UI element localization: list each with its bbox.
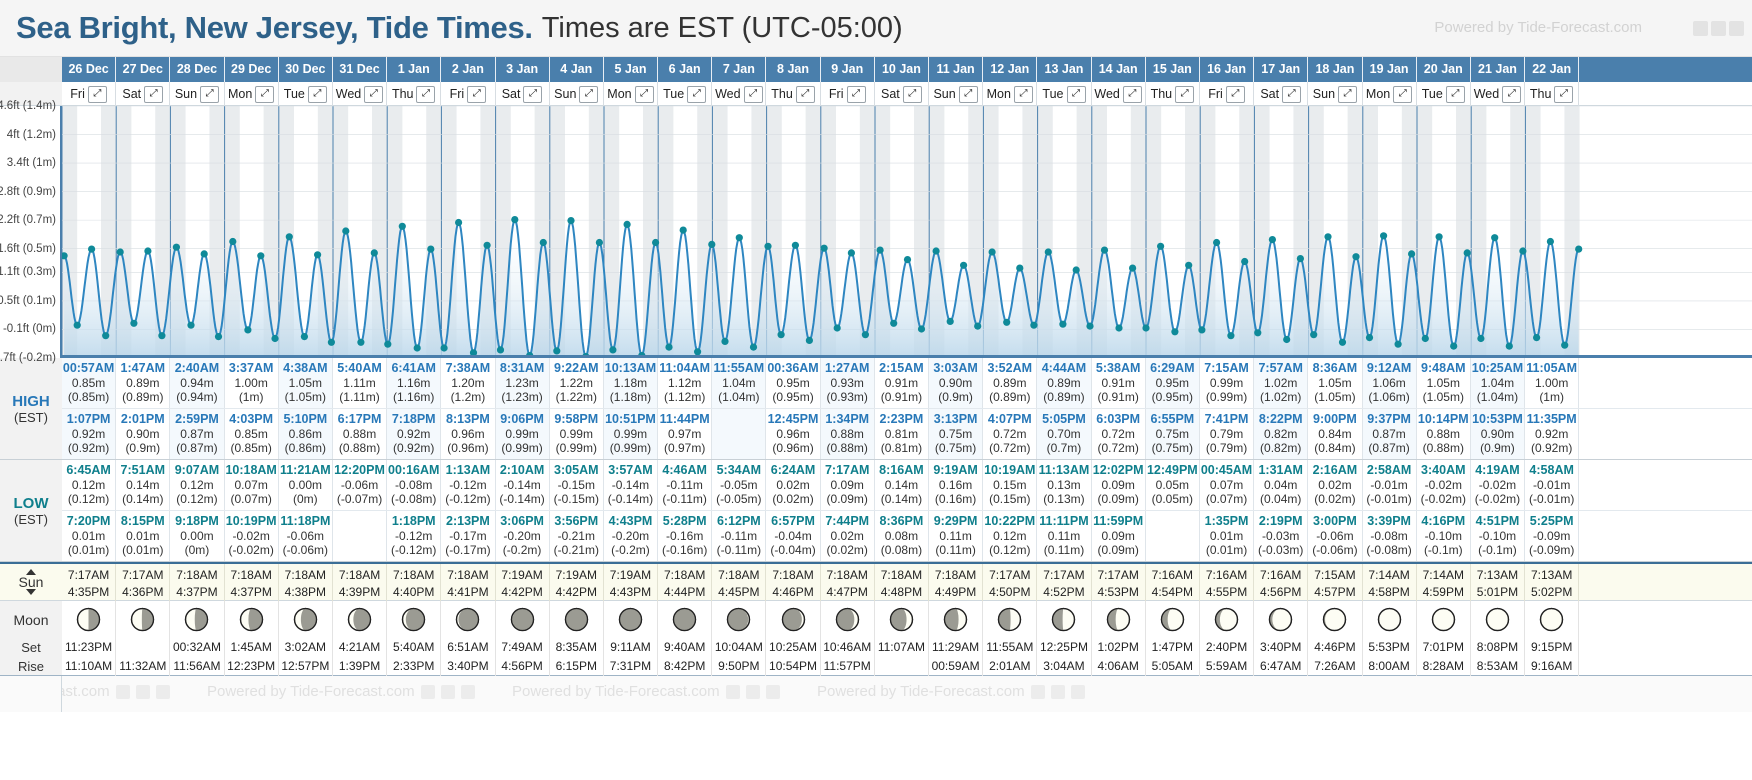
low-tide-time: 3:39PM: [1363, 514, 1416, 529]
moon-rise-cell: 11:57PM: [821, 657, 875, 676]
low-tide-cell: 2:58AM-0.01m(-0.01m): [1363, 460, 1417, 510]
low-tide-time: 4:43PM: [604, 514, 657, 529]
sunrise-time: 7:16AM: [1146, 567, 1199, 584]
high-tide-time: 8:36AM: [1308, 361, 1361, 376]
date-header-cell[interactable]: 2 Jan: [441, 57, 495, 82]
high-tide-cell: 2:40AM0.94m(0.94m): [170, 358, 224, 408]
weekday-cell: Fri⤢: [821, 82, 875, 106]
footer-watermark-badge-icon: [116, 685, 130, 699]
high-tide-cell: 9:37PM0.87m(0.87m): [1363, 409, 1417, 459]
date-header-cell[interactable]: 9 Jan: [821, 57, 875, 82]
sunrise-time: 7:13AM: [1525, 567, 1578, 584]
high-tide-marker: [567, 217, 574, 224]
high-tide-cell: 10:13AM1.18m(1.18m): [604, 358, 658, 408]
high-tide-marker: [1464, 249, 1471, 256]
low-tide-height: -0.12m: [387, 529, 440, 543]
high-tide-marker: [173, 244, 180, 251]
low-tide-cell: 9:19AM0.16m(0.16m): [929, 460, 983, 510]
sun-cell: 7:18AM4:41PM: [441, 564, 495, 603]
low-tide-marker: [102, 332, 109, 339]
sun-cell: 7:19AM4:42PM: [496, 564, 550, 603]
high-tide-time: 6:55PM: [1146, 412, 1199, 427]
sunrise-time: 7:18AM: [387, 567, 440, 584]
date-header-cell[interactable]: 26 Dec: [62, 57, 116, 82]
low-tide-height-alt: (-0.07m): [333, 492, 386, 506]
high-tide-height-alt: (0.97m): [658, 441, 711, 455]
date-header-cell[interactable]: 29 Dec: [225, 57, 279, 82]
high-tide-time: 2:59PM: [170, 412, 223, 427]
low-tide-height-alt: (0.11m): [1037, 543, 1090, 557]
expand-icon[interactable]: ⤢: [523, 86, 542, 103]
sun-cell: 7:17AM4:50PM: [983, 564, 1037, 603]
low-tide-cell: 4:19AM-0.02m(-0.02m): [1471, 460, 1525, 510]
expand-icon[interactable]: ⤢: [255, 86, 274, 103]
sunset-time: 4:53PM: [1092, 584, 1145, 601]
weekday-cell: Wed⤢: [712, 82, 766, 106]
low-tide-cell: 00:45AM0.07m(0.07m): [1200, 460, 1254, 510]
high-tide-cell: 8:36AM1.05m(1.05m): [1308, 358, 1362, 408]
high-tide-cell: 4:38AM1.05m(1.05m): [279, 358, 333, 408]
high-tide-height: 0.88m: [821, 427, 874, 441]
moon-cell: [333, 601, 387, 638]
high-tide-height-alt: (0.96m): [766, 441, 819, 455]
sunset-time: 4:50PM: [983, 584, 1036, 601]
moon-phase-icon: [781, 607, 806, 632]
date-header-cell[interactable]: 8 Jan: [766, 57, 820, 82]
low-tide-marker: [665, 344, 672, 351]
moon-phase-icon: [672, 607, 697, 632]
low-tide-height-alt: (-0.16m): [658, 543, 711, 557]
high-tide-time: 4:44AM: [1037, 361, 1090, 376]
date-header-cell[interactable]: 18 Jan: [1308, 57, 1362, 82]
high-tide-marker: [624, 221, 631, 228]
high-tide-height: 0.92m: [1525, 427, 1578, 441]
high-tide-height: 0.82m: [1254, 427, 1307, 441]
sunset-time: 4:41PM: [441, 584, 494, 601]
high-tide-height-alt: (0.91m): [1092, 390, 1145, 404]
high-tide-marker: [1324, 233, 1331, 240]
low-tide-time: 6:45AM: [62, 463, 115, 478]
high-tide-section: HIGH (EST) 00:57AM0.85m(0.85m)1:47AM0.89…: [0, 358, 1752, 460]
moon-cell: [1092, 601, 1146, 638]
low-tide-cell: 10:18AM0.07m(0.07m): [225, 460, 279, 510]
sunset-time: 4:47PM: [821, 584, 874, 601]
expand-icon[interactable]: ⤢: [847, 86, 866, 103]
date-header-cell[interactable]: 14 Jan: [1092, 57, 1146, 82]
low-tide-cell: 3:00PM-0.06m(-0.06m): [1308, 511, 1362, 561]
sunrise-time: 7:18AM: [170, 567, 223, 584]
low-tide-time: 3:05AM: [550, 463, 603, 478]
sunset-time: 4:37PM: [170, 584, 223, 601]
high-tide-marker: [117, 248, 124, 255]
low-tide-height: 0.13m: [1037, 478, 1090, 492]
date-header-cell[interactable]: 7 Jan: [712, 57, 766, 82]
tide-curve-svg: [62, 106, 1752, 358]
low-tide-marker: [1366, 334, 1373, 341]
high-tide-cell: 9:12AM1.06m(1.06m): [1363, 358, 1417, 408]
weekday-cell: Sun⤢: [550, 82, 604, 106]
low-tide-height: 0.07m: [225, 478, 278, 492]
low-tide-height-alt: (-0.01m): [1363, 492, 1416, 506]
sunset-time: 4:37PM: [225, 584, 278, 601]
date-header-cell[interactable]: 3 Jan: [496, 57, 550, 82]
low-tide-time: 00:45AM: [1200, 463, 1253, 478]
date-header-cell[interactable]: 17 Jan: [1254, 57, 1308, 82]
low-tide-height: -0.09m: [1525, 529, 1578, 543]
weekday-cell: Fri⤢: [441, 82, 495, 106]
high-tide-marker: [1297, 255, 1304, 262]
date-header-cell[interactable]: 30 Dec: [279, 57, 333, 82]
weekday-label: Thu: [392, 87, 414, 101]
moon-rise-row: Rise 11:10AM11:32AM11:56AM12:23PM12:57PM…: [0, 657, 1752, 676]
expand-icon[interactable]: ⤢: [1393, 86, 1412, 103]
low-tide-time: 10:19AM: [983, 463, 1036, 478]
expand-icon[interactable]: ⤢: [1338, 86, 1357, 103]
expand-icon[interactable]: ⤢: [88, 86, 107, 103]
date-header-cell[interactable]: 20 Jan: [1417, 57, 1471, 82]
high-tide-height-alt: (1.05m): [279, 390, 332, 404]
moon-set-cell: 12:25PM: [1037, 638, 1091, 657]
high-tide-cell: 4:03PM0.85m(0.85m): [225, 409, 279, 459]
sun-cell: 7:17AM4:53PM: [1092, 564, 1146, 603]
low-tide-height: 0.11m: [929, 529, 982, 543]
expand-icon[interactable]: ⤢: [308, 86, 327, 103]
moon-rise-cell: 9:16AM: [1525, 657, 1579, 676]
moon-cell: [1417, 601, 1471, 638]
date-header-cell[interactable]: 13 Jan: [1037, 57, 1091, 82]
high-tide-marker: [144, 247, 151, 254]
high-tide-marker: [1519, 247, 1526, 254]
date-header-cell[interactable]: 28 Dec: [170, 57, 224, 82]
high-tide-time: 11:44PM: [658, 412, 711, 427]
low-tide-height: -0.10m: [1417, 529, 1470, 543]
low-tide-cell: 2:19PM-0.03m(-0.03m): [1254, 511, 1308, 561]
expand-icon[interactable]: ⤢: [687, 86, 706, 103]
low-tide-marker: [1086, 323, 1093, 330]
low-tide-time: 10:18AM: [225, 463, 278, 478]
high-tide-height-alt: (0.88m): [821, 441, 874, 455]
low-tide-marker: [1395, 341, 1402, 348]
moon-rise-cell: 5:59AM: [1200, 657, 1254, 676]
expand-icon[interactable]: ⤢: [467, 86, 486, 103]
low-tide-time: 3:56PM: [550, 514, 603, 529]
sunrise-time: 7:19AM: [496, 567, 549, 584]
high-tide-height: 0.75m: [1146, 427, 1199, 441]
moon-rise-cell: 4:56PM: [496, 657, 550, 676]
expand-icon[interactable]: ⤢: [1123, 86, 1142, 103]
low-tide-cell: 2:10AM-0.14m(-0.14m): [496, 460, 550, 510]
weekday-cell: Mon⤢: [225, 82, 279, 106]
high-tide-marker: [1241, 258, 1248, 265]
low-tide-height: 0.01m: [116, 529, 169, 543]
low-tide-cell: 3:57AM-0.14m(-0.14m): [604, 460, 658, 510]
high-tide-time: 11:05AM: [1525, 361, 1578, 376]
high-tide-height: 0.89m: [116, 376, 169, 390]
low-tide-height: -0.11m: [712, 529, 765, 543]
low-tide-marker: [271, 335, 278, 342]
high-tide-height-alt: (0.92m): [1525, 441, 1578, 455]
high-tide-time: 2:01PM: [116, 412, 169, 427]
weekday-label: Wed: [1094, 87, 1119, 101]
low-tide-time: 7:51AM: [116, 463, 169, 478]
high-tide-time: 8:22PM: [1254, 412, 1307, 427]
weekday-cell: Sat⤢: [116, 82, 170, 106]
low-tide-height-alt: (-0.08m): [1363, 543, 1416, 557]
date-header-cell[interactable]: 10 Jan: [875, 57, 929, 82]
expand-icon[interactable]: ⤢: [1175, 86, 1194, 103]
low-tide-height-alt: (0.01m): [62, 543, 115, 557]
expand-icon[interactable]: ⤢: [1554, 86, 1573, 103]
footer-watermark-text: Powered by Tide-Forecast.com: [512, 683, 720, 700]
high-tide-time: 7:18PM: [387, 412, 440, 427]
moon-cell: [983, 601, 1037, 638]
chart-y-axis: 4.6ft (1.4m)4ft (1.2m)3.4ft (1m)2.8ft (0…: [0, 106, 62, 358]
footer-watermark-badge-icon: [441, 685, 455, 699]
high-tide-time: 5:38AM: [1092, 361, 1145, 376]
low-tide-height-alt: (-0.17m): [441, 543, 494, 557]
expand-icon[interactable]: ⤢: [903, 86, 922, 103]
high-tide-marker: [652, 239, 659, 246]
high-tide-time: 9:06PM: [496, 412, 549, 427]
low-tide-cell: [1146, 511, 1200, 561]
sunset-time: 4:58PM: [1363, 584, 1416, 601]
expand-icon[interactable]: ⤢: [1282, 86, 1301, 103]
date-header-cell[interactable]: 15 Jan: [1146, 57, 1200, 82]
low-tide-time: 2:19PM: [1254, 514, 1307, 529]
moon-rise-cell: 8:00AM: [1363, 657, 1417, 676]
high-tide-time: 6:03PM: [1092, 412, 1145, 427]
moon-phase-row: Moon: [0, 601, 1752, 638]
high-tide-height: 0.79m: [1200, 427, 1253, 441]
high-tide-height: 0.99m: [550, 427, 603, 441]
expand-icon[interactable]: ⤢: [1502, 86, 1521, 103]
moon-set-cell: 5:40AM: [387, 638, 441, 657]
high-tide-height: 0.96m: [441, 427, 494, 441]
high-tide-time: 9:58PM: [550, 412, 603, 427]
moon-phase-icon: [835, 607, 860, 632]
high-tide-time: 4:38AM: [279, 361, 332, 376]
date-header-cell[interactable]: 4 Jan: [550, 57, 604, 82]
high-tide-time: 10:14PM: [1417, 412, 1470, 427]
high-tide-height: 0.85m: [225, 427, 278, 441]
date-header-cell[interactable]: 6 Jan: [658, 57, 712, 82]
moon-set-cell: 10:04AM: [712, 638, 766, 657]
y-axis-tick-label: 4.6ft (1.4m): [0, 100, 56, 112]
high-tide-marker: [371, 249, 378, 256]
high-tide-height-alt: (0.95m): [766, 390, 819, 404]
low-tide-height-alt: (0.15m): [983, 492, 1036, 506]
moon-cell: [1363, 601, 1417, 638]
sun-cell: 7:18AM4:40PM: [387, 564, 441, 603]
weekday-cell: Tue⤢: [1037, 82, 1091, 106]
expand-icon[interactable]: ⤢: [1067, 86, 1086, 103]
expand-icon[interactable]: ⤢: [744, 86, 763, 103]
low-tide-marker: [890, 320, 897, 327]
date-header-cell[interactable]: 11 Jan: [929, 57, 983, 82]
weekday-label: Tue: [663, 87, 684, 101]
high-tide-height-alt: (0.9m): [116, 441, 169, 455]
sunrise-time: 7:17AM: [983, 567, 1036, 584]
y-axis-tick-label: 4ft (1.2m): [7, 129, 56, 141]
low-tide-time: 8:15PM: [116, 514, 169, 529]
low-tide-marker: [414, 344, 421, 351]
sun-cell: 7:18AM4:46PM: [766, 564, 820, 603]
low-tide-time: 12:02PM: [1092, 463, 1145, 478]
low-tide-cell: 5:25PM-0.09m(-0.09m): [1525, 511, 1579, 561]
sunset-time: 4:57PM: [1308, 584, 1361, 601]
low-tide-height: 0.02m: [821, 529, 874, 543]
low-tide-cell: 10:22PM0.12m(0.12m): [983, 511, 1037, 561]
sun-cell: 7:18AM4:48PM: [875, 564, 929, 603]
sunset-time: 4:48PM: [875, 584, 928, 601]
page-subtitle: Times are EST (UTC-05:00): [542, 12, 903, 45]
high-tide-cell: 6:29AM0.95m(0.95m): [1146, 358, 1200, 408]
sun-cell: 7:13AM5:02PM: [1525, 564, 1579, 603]
high-tide-height-alt: (0.91m): [875, 390, 928, 404]
expand-icon[interactable]: ⤢: [635, 86, 654, 103]
low-tide-cell: 4:43PM-0.20m(-0.2m): [604, 511, 658, 561]
low-tide-marker: [74, 322, 81, 329]
high-tide-height: 0.92m: [387, 427, 440, 441]
moon-set-label: Set: [0, 638, 62, 657]
high-tide-height: 0.95m: [766, 376, 819, 390]
low-tide-height: 0.00m: [279, 478, 332, 492]
low-tide-cell: 9:07AM0.12m(0.12m): [170, 460, 224, 510]
low-tide-marker: [1142, 324, 1149, 331]
sun-cell: 7:18AM4:37PM: [225, 564, 279, 603]
expand-icon[interactable]: ⤢: [1014, 86, 1033, 103]
moon-rise-cell: 3:40PM: [441, 657, 495, 676]
footer-watermark-text: Powered by Tide-Forecast.com: [207, 683, 415, 700]
date-header-cell[interactable]: 19 Jan: [1363, 57, 1417, 82]
weekday-cell: Sat⤢: [875, 82, 929, 106]
low-tide-cell: 11:21AM0.00m(0m): [279, 460, 333, 510]
low-tide-marker: [158, 332, 165, 339]
date-header-cell[interactable]: 22 Jan: [1525, 57, 1579, 82]
low-tide-time: 8:16AM: [875, 463, 928, 478]
moon-rise-cell: 00:59AM: [929, 657, 983, 676]
low-tide-marker: [834, 324, 841, 331]
low-tide-height: -0.02m: [1471, 478, 1524, 492]
high-tide-time: 3:03AM: [929, 361, 982, 376]
expand-icon[interactable]: ⤢: [579, 86, 598, 103]
moon-set-cell: 9:11AM: [604, 638, 658, 657]
high-tide-cell: 12:45PM0.96m(0.96m): [766, 409, 820, 459]
low-tide-marker: [187, 322, 194, 329]
sunset-time: 4:52PM: [1037, 584, 1090, 601]
expand-icon[interactable]: ⤢: [200, 86, 219, 103]
high-tide-time: 10:51PM: [604, 412, 657, 427]
expand-icon[interactable]: ⤢: [1446, 86, 1465, 103]
date-header-cell[interactable]: 12 Jan: [983, 57, 1037, 82]
low-tide-height: 0.16m: [929, 478, 982, 492]
high-tide-height-alt: (0.89m): [1037, 390, 1090, 404]
moon-cell: [875, 601, 929, 638]
expand-icon[interactable]: ⤢: [959, 86, 978, 103]
sunrise-time: 7:15AM: [1308, 567, 1361, 584]
sunrise-time: 7:18AM: [333, 567, 386, 584]
date-header-cell[interactable]: 21 Jan: [1471, 57, 1525, 82]
date-header-cell[interactable]: 1 Jan: [387, 57, 441, 82]
low-tide-height: -0.10m: [1471, 529, 1524, 543]
moon-cell: [929, 601, 983, 638]
expand-icon[interactable]: ⤢: [144, 86, 163, 103]
high-tide-cell: 3:52AM0.89m(0.89m): [983, 358, 1037, 408]
footer-watermark-strip: Powered by Tide-Forecast.comPowered by T…: [62, 676, 1752, 712]
low-tide-height: -0.21m: [550, 529, 603, 543]
low-tide-height-alt: (0m): [279, 492, 332, 506]
sun-cell: 7:18AM4:47PM: [821, 564, 875, 603]
high-tide-cell: 6:55PM0.75m(0.75m): [1146, 409, 1200, 459]
high-tide-marker: [596, 239, 603, 246]
low-tide-height: -0.06m: [279, 529, 332, 543]
weekday-cell: Sun⤢: [929, 82, 983, 106]
low-tide-cell: 8:15PM0.01m(0.01m): [116, 511, 170, 561]
expand-icon[interactable]: ⤢: [1226, 86, 1245, 103]
expand-icon[interactable]: ⤢: [796, 86, 815, 103]
high-tide-time: 1:27AM: [821, 361, 874, 376]
low-tide-height: -0.17m: [441, 529, 494, 543]
date-header-cell[interactable]: 5 Jan: [604, 57, 658, 82]
low-tide-marker: [244, 326, 251, 333]
high-tide-height-alt: (1.23m): [496, 390, 549, 404]
low-tide-marker: [1227, 332, 1234, 339]
high-tide-cell: 11:05AM1.00m(1m): [1525, 358, 1579, 408]
low-tide-time: 9:19AM: [929, 463, 982, 478]
high-tide-time: 9:22AM: [550, 361, 603, 376]
low-tide-height: -0.15m: [550, 478, 603, 492]
high-tide-marker: [201, 250, 208, 257]
high-tide-height: 0.88m: [333, 427, 386, 441]
moon-cell: [550, 601, 604, 638]
high-tide-height-alt: (1.22m): [550, 390, 603, 404]
high-tide-cell: 11:04AM1.12m(1.12m): [658, 358, 712, 408]
low-tide-section: LOW (EST) 6:45AM0.12m(0.12m)7:51AM0.14m(…: [0, 460, 1752, 562]
date-header-cell[interactable]: 16 Jan: [1200, 57, 1254, 82]
moon-rise-cell: 6:47AM: [1254, 657, 1308, 676]
low-tide-cell: 12:49PM0.05m(0.05m): [1146, 460, 1200, 510]
footer-watermark: Powered by Tide-Forecast.com: [62, 683, 170, 700]
expand-icon[interactable]: ⤢: [364, 86, 383, 103]
weekday-label: Sun: [933, 87, 955, 101]
high-tide-height: 1.04m: [1471, 376, 1524, 390]
low-tide-time: 3:40AM: [1417, 463, 1470, 478]
low-tide-height-alt: (-0.01m): [1525, 492, 1578, 506]
moon-rise-cell: 2:01AM: [983, 657, 1037, 676]
date-header-cell[interactable]: 31 Dec: [333, 57, 387, 82]
moon-phase-icon: [726, 607, 751, 632]
date-header-cell[interactable]: 27 Dec: [116, 57, 170, 82]
low-tide-cell: 9:29PM0.11m(0.11m): [929, 511, 983, 561]
moon-rise-cell: 12:57PM: [279, 657, 333, 676]
sun-cell: 7:16AM4:54PM: [1146, 564, 1200, 603]
expand-icon[interactable]: ⤢: [416, 86, 435, 103]
high-tide-marker: [764, 243, 771, 250]
high-tide-cell: 1:34PM0.88m(0.88m): [821, 409, 875, 459]
low-tide-marker: [384, 341, 391, 348]
low-tide-marker: [1030, 322, 1037, 329]
high-tide-height-alt: (0.79m): [1200, 441, 1253, 455]
high-tide-marker: [1491, 234, 1498, 241]
moon-cell: [1525, 601, 1579, 638]
high-tide-marker: [736, 234, 743, 241]
weekday-label: Mon: [607, 87, 631, 101]
high-tide-height: 0.93m: [821, 376, 874, 390]
high-tide-cell: 8:22PM0.82m(0.82m): [1254, 409, 1308, 459]
low-tide-cell: 7:44PM0.02m(0.02m): [821, 511, 875, 561]
low-tide-cell: 8:36PM0.08m(0.08m): [875, 511, 929, 561]
sunset-time: 4:46PM: [766, 584, 819, 601]
